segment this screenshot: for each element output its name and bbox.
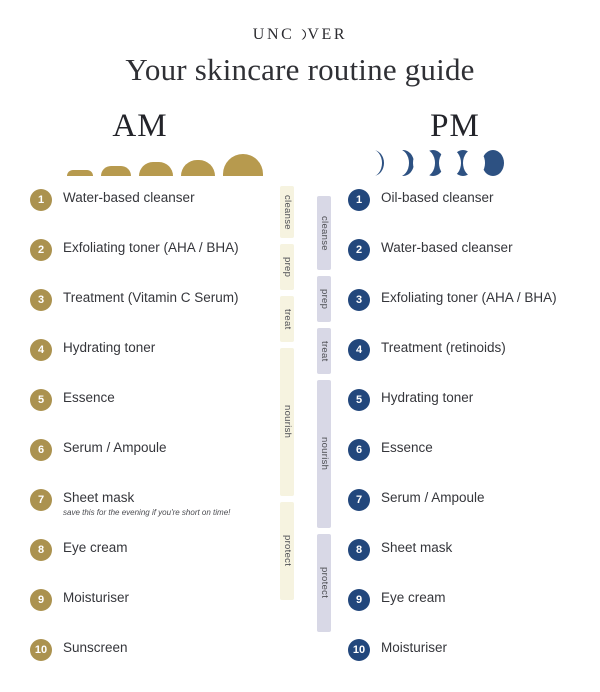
step-label: Essence [63,390,115,407]
step-text-group: Oil-based cleanser [381,188,494,207]
step-text-group: Sunscreen [63,638,128,657]
category-bar-label: treat [319,341,329,362]
step-label: Hydrating toner [381,390,473,407]
routine-step[interactable]: 7Sheet masksave this for the evening if … [30,488,275,538]
category-bar: treat [280,296,294,342]
step-text-group: Exfoliating toner (AHA / BHA) [381,288,557,307]
category-bar-label: nourish [282,405,292,438]
skincare-routine-infographic: UNCVER Your skincare routine guide AM PM… [0,0,600,692]
sunrise-arc-3-icon [139,162,173,176]
step-label: Exfoliating toner (AHA / BHA) [381,290,557,307]
step-label: Hydrating toner [63,340,155,357]
routine-list-pm: 1Oil-based cleanser2Water-based cleanser… [348,188,593,688]
step-number-badge: 10 [30,639,52,661]
step-text-group: Hydrating toner [381,388,473,407]
routine-step[interactable]: 4Treatment (retinoids) [348,338,593,388]
step-label: Water-based cleanser [63,190,195,207]
step-text-group: Treatment (retinoids) [381,338,506,357]
routine-step[interactable]: 6Essence [348,438,593,488]
brand-text-before: UNC [253,26,295,43]
step-label: Moisturiser [381,640,447,657]
moon-phase-1-icon [362,150,384,176]
step-text-group: Serum / Ampoule [381,488,485,507]
step-number-badge: 1 [348,189,370,211]
step-label: Eye cream [63,540,128,557]
column-heading-pm: PM [330,108,580,145]
step-number-badge: 2 [30,239,52,261]
step-number-badge: 6 [30,439,52,461]
category-bar: cleanse [317,196,331,270]
step-number-badge: 7 [30,489,52,511]
category-bar-label: cleanse [282,195,292,230]
category-bar: cleanse [280,186,294,238]
step-text-group: Hydrating toner [63,338,155,357]
routine-step[interactable]: 10Sunscreen [30,638,275,688]
moon-phase-5-icon [482,150,504,176]
step-text-group: Essence [63,388,115,407]
category-bar: nourish [280,348,294,496]
routine-step[interactable]: 10Moisturiser [348,638,593,688]
brand-logo: UNCVER [0,26,600,44]
step-number-badge: 8 [30,539,52,561]
routine-step[interactable]: 1Water-based cleanser [30,188,275,238]
step-label: Serum / Ampoule [63,440,167,457]
step-text-group: Sheet masksave this for the evening if y… [63,488,230,518]
routine-step[interactable]: 9Eye cream [348,588,593,638]
moon-phase-icon-row [362,148,504,176]
column-heading-am: AM [0,108,280,145]
brand-text-after: VER [307,26,347,43]
routine-step[interactable]: 1Oil-based cleanser [348,188,593,238]
category-bar: protect [280,502,294,600]
step-label: Essence [381,440,433,457]
step-number-badge: 9 [348,589,370,611]
routine-step[interactable]: 5Essence [30,388,275,438]
routine-step[interactable]: 9Moisturiser [30,588,275,638]
category-bar: prep [280,244,294,290]
category-bar-label: protect [282,535,292,566]
step-label: Serum / Ampoule [381,490,485,507]
sunrise-arc-4-icon [181,160,215,176]
step-text-group: Treatment (Vitamin C Serum) [63,288,239,307]
step-text-group: Water-based cleanser [381,238,513,257]
category-bars-pm: cleansepreptreatnourishprotect [317,196,331,638]
step-text-group: Water-based cleanser [63,188,195,207]
category-bar-label: prep [319,289,329,309]
step-note: save this for the evening if you're shor… [63,508,230,518]
step-label: Exfoliating toner (AHA / BHA) [63,240,239,257]
step-label: Water-based cleanser [381,240,513,257]
step-text-group: Eye cream [63,538,128,557]
step-label: Sheet mask [381,540,452,557]
step-number-badge: 8 [348,539,370,561]
step-number-badge: 3 [30,289,52,311]
page-title: Your skincare routine guide [0,52,600,88]
routine-step[interactable]: 8Eye cream [30,538,275,588]
routine-list-am: 1Water-based cleanser2Exfoliating toner … [30,188,275,688]
routine-step[interactable]: 2Water-based cleanser [348,238,593,288]
step-label: Sunscreen [63,640,128,657]
routine-step[interactable]: 2Exfoliating toner (AHA / BHA) [30,238,275,288]
sunrise-arc-5-icon [223,154,263,176]
step-number-badge: 4 [30,339,52,361]
step-number-badge: 4 [348,339,370,361]
step-label: Oil-based cleanser [381,190,494,207]
category-bar-label: prep [282,257,292,277]
step-number-badge: 10 [348,639,370,661]
routine-step[interactable]: 6Serum / Ampoule [30,438,275,488]
category-bar: prep [317,276,331,322]
step-text-group: Exfoliating toner (AHA / BHA) [63,238,239,257]
step-number-badge: 1 [30,189,52,211]
moon-phase-2-icon [392,150,414,176]
category-bars-am: cleansepreptreatnourishprotect [280,186,294,606]
category-bar-label: protect [319,567,329,598]
step-number-badge: 6 [348,439,370,461]
step-text-group: Serum / Ampoule [63,438,167,457]
step-number-badge: 3 [348,289,370,311]
category-bar-label: cleanse [319,216,329,251]
category-bar: treat [317,328,331,374]
step-label: Moisturiser [63,590,129,607]
step-text-group: Essence [381,438,433,457]
sunrise-arc-2-icon [101,166,131,176]
step-number-badge: 9 [30,589,52,611]
category-bar-label: treat [282,309,292,330]
step-text-group: Moisturiser [381,638,447,657]
step-text-group: Moisturiser [63,588,129,607]
routine-step[interactable]: 8Sheet mask [348,538,593,588]
step-number-badge: 5 [348,389,370,411]
routine-step[interactable]: 3Exfoliating toner (AHA / BHA) [348,288,593,338]
category-bar: nourish [317,380,331,528]
step-text-group: Sheet mask [381,538,452,557]
category-bar: protect [317,534,331,632]
sunrise-icon-row [67,148,263,176]
step-text-group: Eye cream [381,588,446,607]
step-label: Treatment (retinoids) [381,340,506,357]
category-bar-label: nourish [319,437,329,470]
routine-step[interactable]: 7Serum / Ampoule [348,488,593,538]
crescent-moon-icon [295,29,306,40]
step-label: Sheet mask [63,490,230,507]
step-number-badge: 7 [348,489,370,511]
step-number-badge: 5 [30,389,52,411]
sunrise-arc-1-icon [67,170,93,176]
routine-step[interactable]: 3Treatment (Vitamin C Serum) [30,288,275,338]
step-number-badge: 2 [348,239,370,261]
routine-step[interactable]: 4Hydrating toner [30,338,275,388]
routine-step[interactable]: 5Hydrating toner [348,388,593,438]
step-label: Treatment (Vitamin C Serum) [63,290,239,307]
step-label: Eye cream [381,590,446,607]
